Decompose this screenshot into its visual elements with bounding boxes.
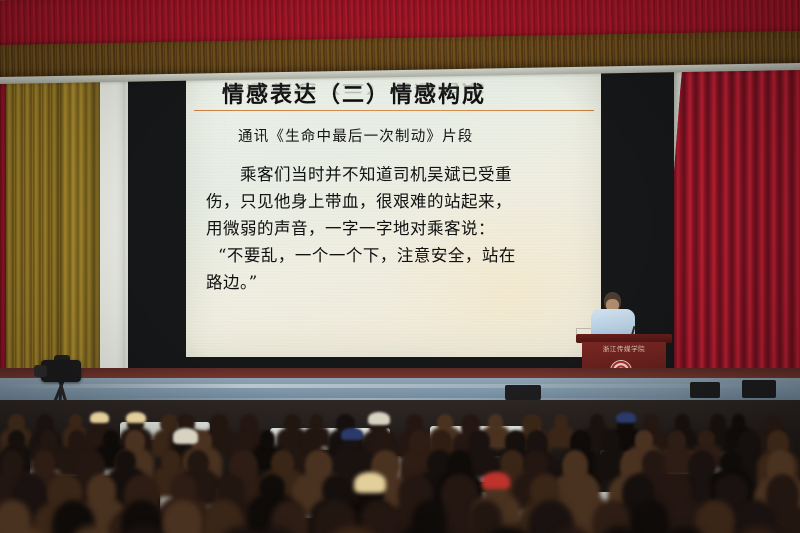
audience-person [69, 414, 82, 429]
audience-cap [368, 412, 390, 425]
audience-person [238, 430, 255, 448]
audience-person [664, 474, 691, 506]
curtain-left-gold-inner [62, 46, 100, 388]
slide-body-line: 用微弱的声音，一字一字地对乘客说： [206, 215, 584, 242]
audience-person [710, 414, 726, 432]
audience-person [68, 430, 87, 452]
audience-person [635, 430, 653, 450]
audience-person [590, 414, 604, 430]
slide-body-line: “不要乱，一个一个下，注意安全，站在 [206, 242, 584, 269]
slide-body-text: 乘客们当时并不知道司机吴斌已受重 伤，只见他身上带血，很艰难的站起来， 用微弱的… [206, 161, 584, 296]
audience-person [698, 430, 714, 447]
camera-lens-icon [34, 365, 47, 377]
audience-cap [482, 472, 510, 489]
audience-cap [173, 428, 198, 444]
audience-person [260, 430, 276, 449]
audience-cap [354, 472, 386, 493]
slide-title: 情感表达（二）情感构成 [222, 77, 486, 109]
audience-person [667, 430, 686, 451]
audience-person [500, 450, 524, 476]
slide-body-line: 路边。” [206, 269, 584, 296]
title-underline-rule [194, 110, 594, 111]
audience-person [8, 430, 25, 448]
audience-cap [341, 428, 363, 440]
slide-body-line: 乘客们当时并不知道司机吴斌已受重 [206, 161, 584, 188]
audience-person [284, 414, 301, 432]
audience-cap [90, 412, 109, 423]
audience-person [259, 474, 285, 501]
audience-person [302, 430, 322, 452]
audience-person [103, 430, 119, 448]
audience-person [170, 474, 197, 503]
curtain-left-gold [6, 44, 70, 388]
audience-person [87, 474, 115, 507]
audience-person [34, 450, 55, 476]
audience-person [310, 414, 323, 429]
audience-person [115, 450, 135, 472]
floor-reflection-highlight [0, 384, 800, 388]
audience-person [374, 430, 390, 448]
stage-monitor [505, 385, 541, 400]
video-camera-icon [41, 360, 81, 382]
audience-person [569, 474, 596, 502]
stage-monitor [690, 382, 720, 398]
audience-person [632, 500, 669, 533]
audience-person [361, 500, 394, 533]
audience-person [602, 430, 620, 452]
slide-subtitle: 通讯《生命中最后一次制动》片段 [238, 125, 474, 146]
audience-person [161, 450, 181, 471]
audience-seating [0, 400, 800, 533]
audience-cap [126, 412, 146, 423]
audience-person [1, 450, 23, 477]
auditorium-scene: 情感表达（二）情感构成 情感表达（二）情感构成 通讯《生命中最后一次制动》片段 … [0, 0, 800, 533]
audience-person [210, 414, 227, 432]
audience-person [305, 450, 332, 480]
audience-person [437, 414, 454, 431]
audience-person [738, 430, 761, 457]
audience-person [187, 450, 209, 475]
projected-slide: 情感表达（二）情感构成 情感表达（二）情感构成 通讯《生命中最后一次制动》片段 … [186, 63, 601, 357]
audience-person [719, 450, 740, 473]
audience-person [488, 414, 503, 430]
podium-name-text: 浙江传媒学院 [582, 342, 666, 354]
audience-person [554, 414, 568, 429]
audience-person [40, 430, 57, 449]
slide-body-line: 伤，只见他身上带血，很艰难的站起来， [206, 188, 584, 215]
stage-monitor [742, 380, 776, 398]
audience-person [469, 430, 490, 452]
audience-cap [616, 412, 636, 423]
audience-person [642, 450, 665, 477]
audience-person [695, 500, 734, 533]
audience-person [271, 450, 294, 475]
